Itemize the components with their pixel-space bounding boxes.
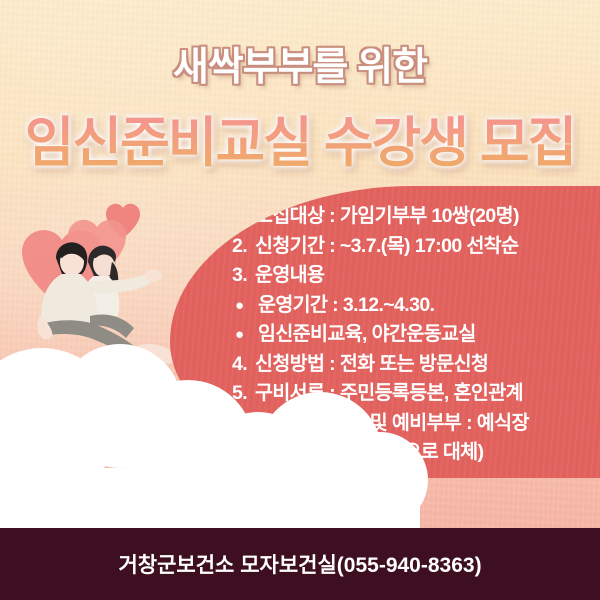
cloud-decoration [0, 328, 600, 528]
list-item: 2. 신청기간 : ~3.7.(목) 17:00 선착순 [232, 232, 592, 262]
footer-bar: 거창군보건소 모자보건실(055-940-8363) [0, 528, 600, 600]
list-item-text: 신청기간 : ~3.7.(목) 17:00 선착순 [255, 232, 592, 262]
list-item: 1. 모집대상 : 가임기부부 10쌍(20명) [232, 202, 592, 232]
list-item: ● 운영기간 : 3.12.~4.30. [232, 291, 592, 321]
footer-contact-text: 거창군보건소 모자보건실(055-940-8363) [118, 549, 481, 579]
list-marker: 2. [232, 232, 255, 262]
cloud-decoration-svg [0, 328, 600, 528]
poster-subtitle: 새싹부부를 위한 [0, 36, 600, 92]
title-block: 새싹부부를 위한 임신준비교실 수강생 모집 [0, 0, 600, 177]
list-marker: 1. [232, 202, 255, 232]
list-bullet-marker: ● [232, 291, 258, 321]
list-item-text: 운영내용 [255, 261, 592, 291]
poster-canvas: 새싹부부를 위한 임신준비교실 수강생 모집 [0, 0, 600, 600]
list-item-text: 모집대상 : 가임기부부 10쌍(20명) [255, 202, 592, 232]
poster-main-title: 임신준비교실 수강생 모집 [0, 98, 600, 177]
list-item: 3. 운영내용 [232, 261, 592, 291]
list-item-text: 운영기간 : 3.12.~4.30. [258, 291, 592, 321]
list-marker: 3. [232, 261, 255, 291]
